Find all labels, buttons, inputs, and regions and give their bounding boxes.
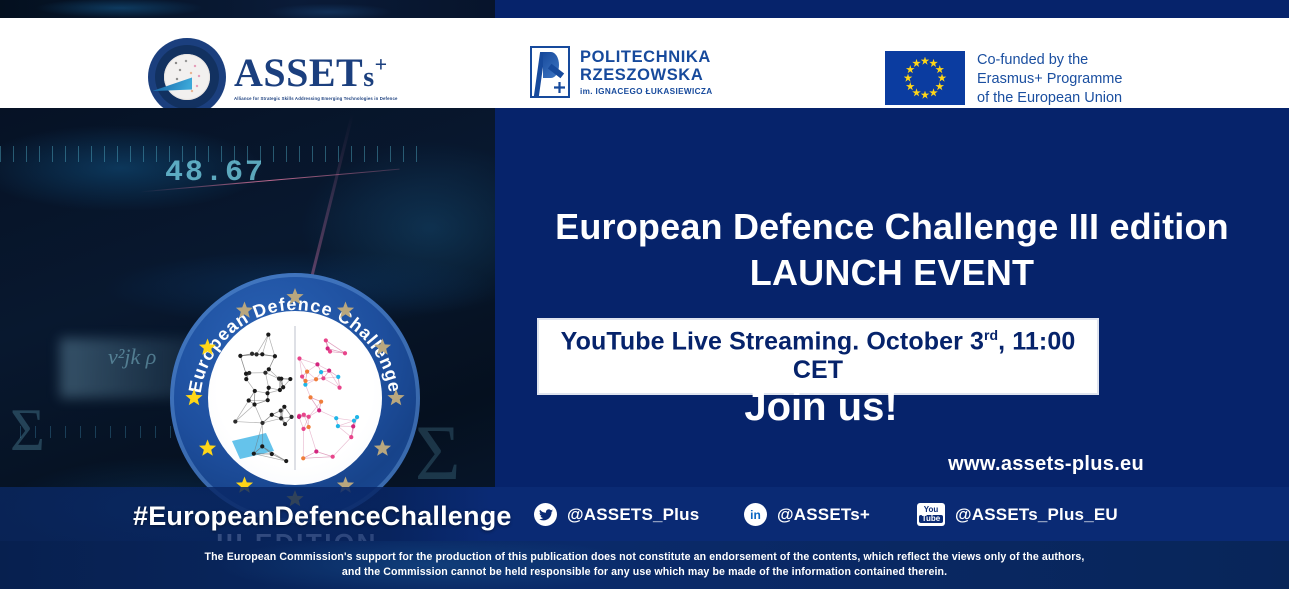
brain-node — [270, 413, 274, 417]
brain-node — [283, 422, 287, 426]
brain-node — [265, 391, 269, 395]
headline-line2: LAUNCH EVENT — [495, 250, 1289, 296]
brain-node — [300, 374, 304, 378]
stream-info-box: YouTube Live Streaming. October 3rd, 11:… — [537, 318, 1099, 395]
eu-star — [935, 65, 944, 74]
brain-node — [250, 352, 254, 356]
brain-node — [289, 415, 293, 419]
brain-node — [301, 427, 305, 431]
emblem-star — [199, 440, 216, 456]
brain-node — [307, 415, 311, 419]
brain-node — [260, 421, 264, 425]
assets-wordmark-plus: + — [375, 52, 388, 77]
linkedin-handle: @ASSETs+ — [777, 505, 870, 525]
brain-node — [303, 383, 307, 387]
brain-node — [355, 415, 359, 419]
brain-node — [327, 369, 331, 373]
brain-node — [279, 377, 283, 381]
brain-node — [238, 354, 242, 358]
brain-node — [337, 386, 341, 390]
youtube-handle: @ASSETs_Plus_EU — [955, 505, 1118, 525]
youtube-glyph-bottom: Tube — [919, 515, 944, 523]
emblem-graphics: European Defence Challenge — [170, 273, 420, 523]
disclaimer-line2: and the Commission cannot be held respon… — [0, 565, 1289, 580]
brain-node — [336, 375, 340, 379]
brain-node — [281, 385, 285, 389]
brain-node — [252, 452, 256, 456]
website-url[interactable]: www.assets-plus.eu — [495, 453, 1289, 476]
brain-node — [252, 402, 256, 406]
brain-node — [266, 398, 270, 402]
hud-sigma-left: Σ — [10, 396, 45, 465]
brain-node — [349, 435, 353, 439]
brain-node — [305, 370, 309, 374]
page-title: European Defence Challenge III edition L… — [495, 204, 1289, 296]
brain-node — [244, 377, 248, 381]
eu-star — [929, 88, 938, 97]
assets-plus-wordmark: ASSETs+ Alliance for Strategic Skills Ad… — [234, 53, 398, 101]
eu-star — [938, 74, 947, 83]
disclaimer-line1: The European Commission's support for th… — [0, 550, 1289, 565]
assets-plus-logo-icon — [148, 38, 230, 116]
linkedin-icon: in — [744, 503, 767, 526]
eu-star — [904, 74, 913, 83]
brain-node — [297, 415, 301, 419]
stream-ordinal: rd — [984, 327, 998, 343]
brain-node — [319, 370, 323, 374]
politechnika-rzeszowska-logo: POLITECHNIKA RZESZOWSKA im. IGNACEGO ŁUK… — [530, 46, 712, 98]
brain-node — [253, 389, 257, 393]
brain-node — [315, 362, 319, 366]
headline-line1: European Defence Challenge III edition — [495, 204, 1289, 250]
brain-node — [263, 371, 267, 375]
brain-node — [303, 379, 307, 383]
brain-node — [279, 408, 283, 412]
brain-node — [301, 456, 305, 460]
politechnika-crest-icon — [530, 46, 570, 98]
brain-node — [233, 419, 237, 423]
banner-root: ASSETs+ Alliance for Strategic Skills Ad… — [0, 0, 1289, 589]
logo-band: ASSETs+ Alliance for Strategic Skills Ad… — [0, 18, 1289, 108]
brain-node — [244, 372, 248, 376]
disclaimer-bar: The European Commission's support for th… — [0, 541, 1289, 589]
social-youtube[interactable]: You Tube @ASSETs_Plus_EU — [917, 503, 1118, 526]
politechnika-line3: im. IGNACEGO ŁUKASIEWICZA — [580, 87, 712, 96]
eu-star — [935, 82, 944, 91]
brain-node — [302, 413, 306, 417]
join-cta: Join us! — [641, 385, 1001, 430]
brain-node — [288, 377, 292, 381]
brain-node — [254, 352, 258, 356]
eu-star — [921, 57, 930, 66]
assets-wordmark-main: ASSET — [234, 50, 363, 95]
brain-node — [317, 408, 321, 412]
brain-node — [324, 338, 328, 342]
european-defence-challenge-emblem: European Defence Challenge III EDITION 2… — [152, 273, 442, 523]
eu-star — [921, 91, 930, 100]
brain-node — [267, 367, 271, 371]
eu-flag-icon — [885, 51, 965, 105]
brain-node — [297, 356, 301, 360]
assets-wordmark-lower: s — [363, 62, 374, 93]
eu-line3: of the European Union — [977, 89, 1122, 108]
politechnika-line2: RZESZOWSKA — [580, 66, 712, 84]
assets-tagline: Alliance for Strategic Skills Addressing… — [234, 96, 398, 101]
eu-star — [906, 65, 915, 74]
eu-star — [912, 88, 921, 97]
brain-node — [282, 405, 286, 409]
eu-cofunding-logo: Co-funded by the Erasmus+ Programme of t… — [885, 51, 1122, 108]
social-footer-bar: #EuropeanDefenceChallenge @ASSETS_Plus i… — [0, 487, 1289, 541]
brain-node — [352, 419, 356, 423]
brain-node — [267, 386, 271, 390]
brain-node — [260, 444, 264, 448]
hud-formula: v²jk ρ — [108, 344, 156, 370]
social-twitter[interactable]: @ASSETS_Plus — [534, 503, 699, 526]
youtube-icon: You Tube — [917, 503, 945, 526]
cross-icon — [554, 82, 565, 93]
brain-node — [273, 354, 277, 358]
brain-node — [336, 424, 340, 428]
top-strip-texture — [0, 0, 495, 18]
brain-node — [308, 395, 312, 399]
politechnika-line1: POLITECHNIKA — [580, 48, 712, 66]
brain-node — [284, 459, 288, 463]
eu-star — [906, 82, 915, 91]
twitter-icon — [534, 503, 557, 526]
brain-node — [331, 455, 335, 459]
eu-star — [929, 59, 938, 68]
top-strip — [0, 0, 1289, 18]
brain-node — [307, 425, 311, 429]
brain-node — [343, 351, 347, 355]
brain-node — [266, 332, 270, 336]
emblem-star — [374, 440, 391, 456]
twitter-handle: @ASSETS_Plus — [567, 505, 699, 525]
youtube-glyph-top: You — [924, 506, 939, 514]
brain-node — [334, 416, 338, 420]
eu-line2: Erasmus+ Programme — [977, 70, 1122, 89]
eu-star — [912, 59, 921, 68]
stream-prefix: YouTube Live Streaming. October 3 — [561, 327, 984, 355]
brain-node — [279, 416, 283, 420]
brain-node — [314, 449, 318, 453]
campaign-hashtag: #EuropeanDefenceChallenge — [133, 501, 512, 532]
brain-node — [260, 352, 264, 356]
brain-node — [321, 376, 325, 380]
brain-node — [270, 452, 274, 456]
brain-node — [326, 346, 330, 350]
brain-node — [314, 377, 318, 381]
top-strip-navy — [495, 0, 1289, 18]
brain-node — [278, 388, 282, 392]
brain-node — [319, 400, 323, 404]
eu-line1: Co-funded by the — [977, 51, 1122, 70]
assets-plus-logo: ASSETs+ Alliance for Strategic Skills Ad… — [148, 38, 398, 116]
brain-node — [351, 424, 355, 428]
social-linkedin[interactable]: in @ASSETs+ — [744, 503, 870, 526]
brain-node — [247, 398, 251, 402]
